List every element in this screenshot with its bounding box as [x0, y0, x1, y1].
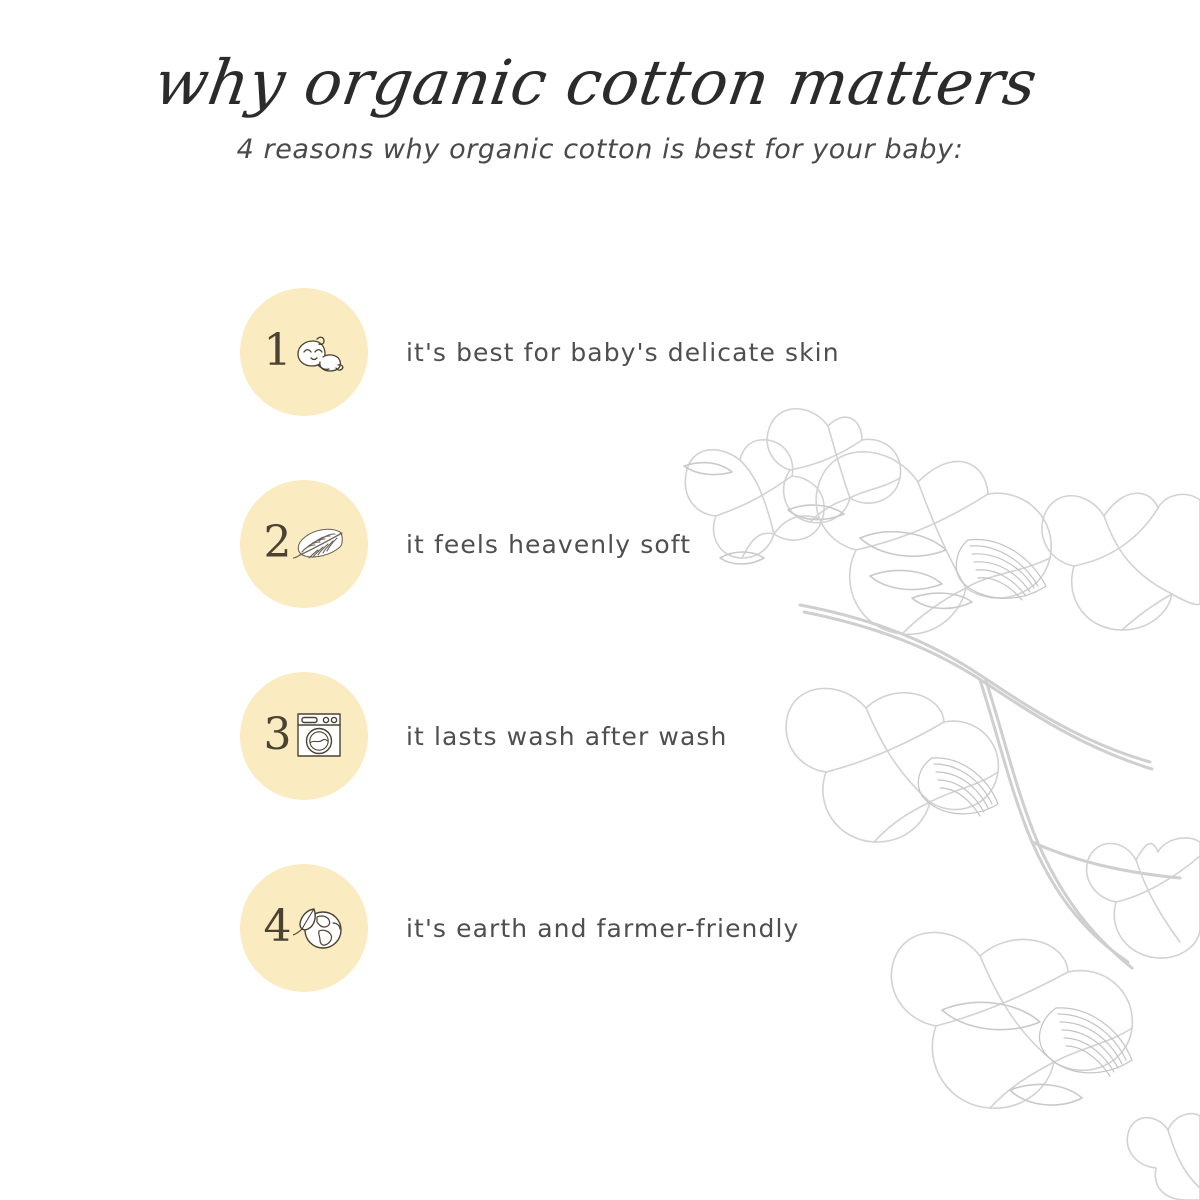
- header: why organic cotton matters 4 reasons why…: [0, 0, 1200, 165]
- globe-leaf-icon: [293, 901, 345, 953]
- reason-number: 4: [264, 905, 292, 949]
- reason-badge-1: 1: [240, 288, 368, 416]
- washing-machine-icon: [293, 709, 345, 761]
- reason-label: it's earth and farmer-friendly: [406, 914, 799, 943]
- reason-number: 2: [264, 521, 292, 565]
- list-item: 1: [240, 288, 840, 416]
- sleeping-baby-icon: [293, 325, 345, 377]
- reason-badge-3: 3: [240, 672, 368, 800]
- list-item: 3: [240, 672, 840, 800]
- list-item: 2: [240, 480, 840, 608]
- reasons-list: 1: [240, 288, 840, 992]
- list-item: 4: [240, 864, 840, 992]
- reason-badge-2: 2: [240, 480, 368, 608]
- reason-badge-4: 4: [240, 864, 368, 992]
- reason-label: it's best for baby's delicate skin: [406, 338, 840, 367]
- reason-label: it lasts wash after wash: [406, 722, 727, 751]
- infographic-canvas: why organic cotton matters 4 reasons why…: [0, 0, 1200, 1200]
- page-title: why organic cotton matters: [0, 0, 1200, 114]
- feather-icon: [293, 517, 345, 569]
- page-subtitle: 4 reasons why organic cotton is best for…: [0, 114, 1200, 165]
- reason-number: 1: [264, 329, 292, 373]
- reason-number: 3: [264, 713, 292, 757]
- reason-label: it feels heavenly soft: [406, 530, 691, 559]
